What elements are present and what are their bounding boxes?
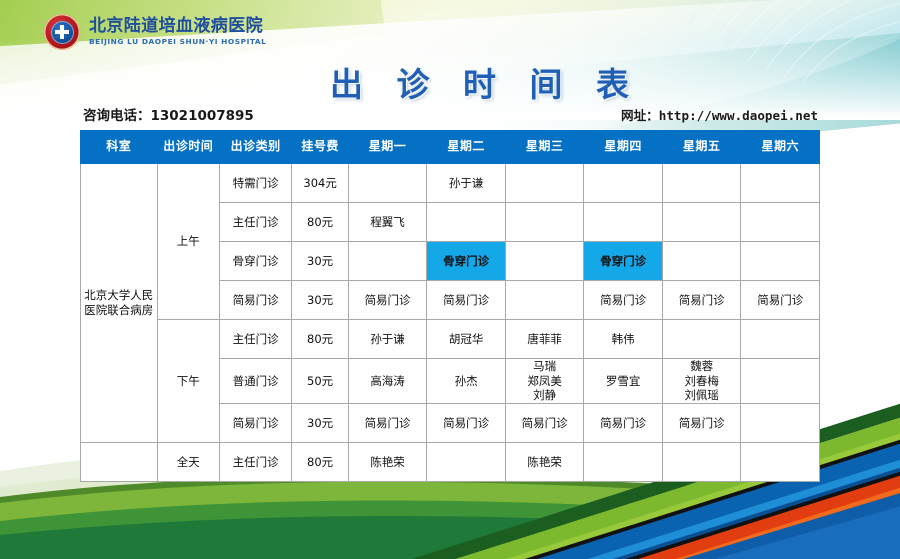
contact-phone: 咨询电话：13021007895	[83, 104, 254, 124]
cell-department: 北京大学人民 医院联合病房	[81, 164, 158, 443]
col-header-wednesday: 星期三	[505, 131, 584, 164]
cell-tuesday	[427, 443, 506, 482]
cell-thursday: 简易门诊	[584, 404, 663, 443]
col-header-fee: 挂号费	[292, 131, 348, 164]
doctor-name: 魏蓉	[665, 359, 739, 374]
cell-fee: 80元	[292, 320, 348, 359]
cell-tuesday: 孙于谦	[427, 164, 506, 203]
cell-category: 简易门诊	[219, 404, 291, 443]
cell-monday: 简易门诊	[348, 281, 427, 320]
cell-saturday	[741, 404, 820, 443]
cell-wednesday	[505, 242, 584, 281]
cell-thursday: 韩伟	[584, 320, 663, 359]
table-header: 科室 出诊时间 出诊类别 挂号费 星期一 星期二 星期三 星期四 星期五 星期六	[81, 131, 820, 164]
cell-thursday	[584, 443, 663, 482]
table-row: 北京大学人民 医院联合病房 上午 特需门诊 304元 孙于谦	[81, 164, 820, 203]
cell-friday	[662, 242, 741, 281]
cell-wednesday	[505, 281, 584, 320]
table-row: 全天 主任门诊 80元 陈艳荣 陈艳荣	[81, 443, 820, 482]
cell-monday: 孙于谦	[348, 320, 427, 359]
cell-fee: 80元	[292, 443, 348, 482]
cell-monday: 程翼飞	[348, 203, 427, 242]
cell-friday: 简易门诊	[662, 281, 741, 320]
website-label: 网址：	[621, 108, 659, 123]
cell-tuesday: 孙杰	[427, 359, 506, 404]
table-row: 下午 主任门诊 80元 孙于谦 胡冠华 唐菲菲 韩伟	[81, 320, 820, 359]
col-header-time: 出诊时间	[157, 131, 219, 164]
website-url: http://www.daopei.net	[659, 108, 818, 123]
doctor-name: 刘春梅	[665, 374, 739, 389]
hospital-name-block: 北京陆道培血液病医院 BEIJING LU DAOPEI SHUN·YI HOS…	[89, 18, 266, 45]
cell-fee: 50元	[292, 359, 348, 404]
page-title: 出 诊 时 间 表	[330, 58, 640, 106]
cell-friday: 魏蓉 刘春梅 刘佩瑶	[662, 359, 741, 404]
doctor-name: 刘静	[508, 388, 582, 403]
website-info: 网址：http://www.daopei.net	[621, 105, 818, 124]
hospital-emblem-icon	[44, 14, 80, 50]
cell-thursday: 简易门诊	[584, 281, 663, 320]
cell-category: 简易门诊	[219, 281, 291, 320]
cell-category: 特需门诊	[219, 164, 291, 203]
cell-wednesday: 马瑞 郑凤美 刘静	[505, 359, 584, 404]
col-header-thursday: 星期四	[584, 131, 663, 164]
cell-fee: 80元	[292, 203, 348, 242]
cell-tuesday-highlighted: 骨穿门诊	[427, 242, 506, 281]
doctor-name: 郑凤美	[508, 374, 582, 389]
cell-monday	[348, 164, 427, 203]
hospital-name-en: BEIJING LU DAOPEI SHUN·YI HOSPITAL	[89, 38, 266, 45]
cell-monday	[348, 242, 427, 281]
cell-tuesday: 简易门诊	[427, 281, 506, 320]
cell-saturday	[741, 443, 820, 482]
cell-saturday	[741, 203, 820, 242]
cell-saturday	[741, 359, 820, 404]
cell-friday	[662, 320, 741, 359]
emblem-inner-circle	[51, 21, 74, 44]
hospital-name-cn: 北京陆道培血液病医院	[89, 18, 266, 35]
col-header-department: 科室	[81, 131, 158, 164]
col-header-category: 出诊类别	[219, 131, 291, 164]
cell-saturday	[741, 242, 820, 281]
cell-fee: 30元	[292, 281, 348, 320]
cell-fee: 30元	[292, 242, 348, 281]
cell-tuesday: 简易门诊	[427, 404, 506, 443]
cell-period-morning: 上午	[157, 164, 219, 320]
cell-period-afternoon: 下午	[157, 320, 219, 443]
cell-category: 主任门诊	[219, 203, 291, 242]
cell-saturday	[741, 164, 820, 203]
department-line-1: 北京大学人民	[84, 288, 153, 302]
col-header-monday: 星期一	[348, 131, 427, 164]
cell-thursday-highlighted: 骨穿门诊	[584, 242, 663, 281]
outpatient-schedule-table: 科室 出诊时间 出诊类别 挂号费 星期一 星期二 星期三 星期四 星期五 星期六…	[80, 130, 820, 482]
cell-category: 普通门诊	[219, 359, 291, 404]
cell-wednesday: 唐菲菲	[505, 320, 584, 359]
cell-period-allday: 全天	[157, 443, 219, 482]
cell-thursday: 罗雪宜	[584, 359, 663, 404]
cell-friday	[662, 164, 741, 203]
cell-wednesday: 简易门诊	[505, 404, 584, 443]
clinic-schedule-poster: 北京陆道培血液病医院 BEIJING LU DAOPEI SHUN·YI HOS…	[0, 0, 900, 559]
department-line-2: 医院联合病房	[84, 303, 153, 317]
col-header-tuesday: 星期二	[427, 131, 506, 164]
cell-fee: 304元	[292, 164, 348, 203]
cell-tuesday: 胡冠华	[427, 320, 506, 359]
cell-fee: 30元	[292, 404, 348, 443]
cell-monday: 陈艳荣	[348, 443, 427, 482]
doctor-name: 刘佩瑶	[665, 388, 739, 403]
cell-friday	[662, 203, 741, 242]
medical-cross-icon	[55, 25, 69, 39]
cell-category: 主任门诊	[219, 320, 291, 359]
doctor-name: 马瑞	[508, 359, 582, 374]
cell-saturday: 简易门诊	[741, 281, 820, 320]
cell-category: 骨穿门诊	[219, 242, 291, 281]
schedule-table-wrapper: 科室 出诊时间 出诊类别 挂号费 星期一 星期二 星期三 星期四 星期五 星期六…	[80, 130, 820, 482]
cell-category: 主任门诊	[219, 443, 291, 482]
cell-wednesday: 陈艳荣	[505, 443, 584, 482]
table-body: 北京大学人民 医院联合病房 上午 特需门诊 304元 孙于谦 主任门诊	[81, 164, 820, 482]
cell-thursday	[584, 203, 663, 242]
cell-saturday	[741, 320, 820, 359]
cell-friday	[662, 443, 741, 482]
cell-monday: 简易门诊	[348, 404, 427, 443]
cell-tuesday	[427, 203, 506, 242]
hospital-logo: 北京陆道培血液病医院 BEIJING LU DAOPEI SHUN·YI HOS…	[44, 14, 266, 50]
table-header-row: 科室 出诊时间 出诊类别 挂号费 星期一 星期二 星期三 星期四 星期五 星期六	[81, 131, 820, 164]
col-header-friday: 星期五	[662, 131, 741, 164]
col-header-saturday: 星期六	[741, 131, 820, 164]
cell-friday: 简易门诊	[662, 404, 741, 443]
cell-wednesday	[505, 164, 584, 203]
cell-wednesday	[505, 203, 584, 242]
cell-thursday	[584, 164, 663, 203]
cell-monday: 高海涛	[348, 359, 427, 404]
cell-department-empty	[81, 443, 158, 482]
